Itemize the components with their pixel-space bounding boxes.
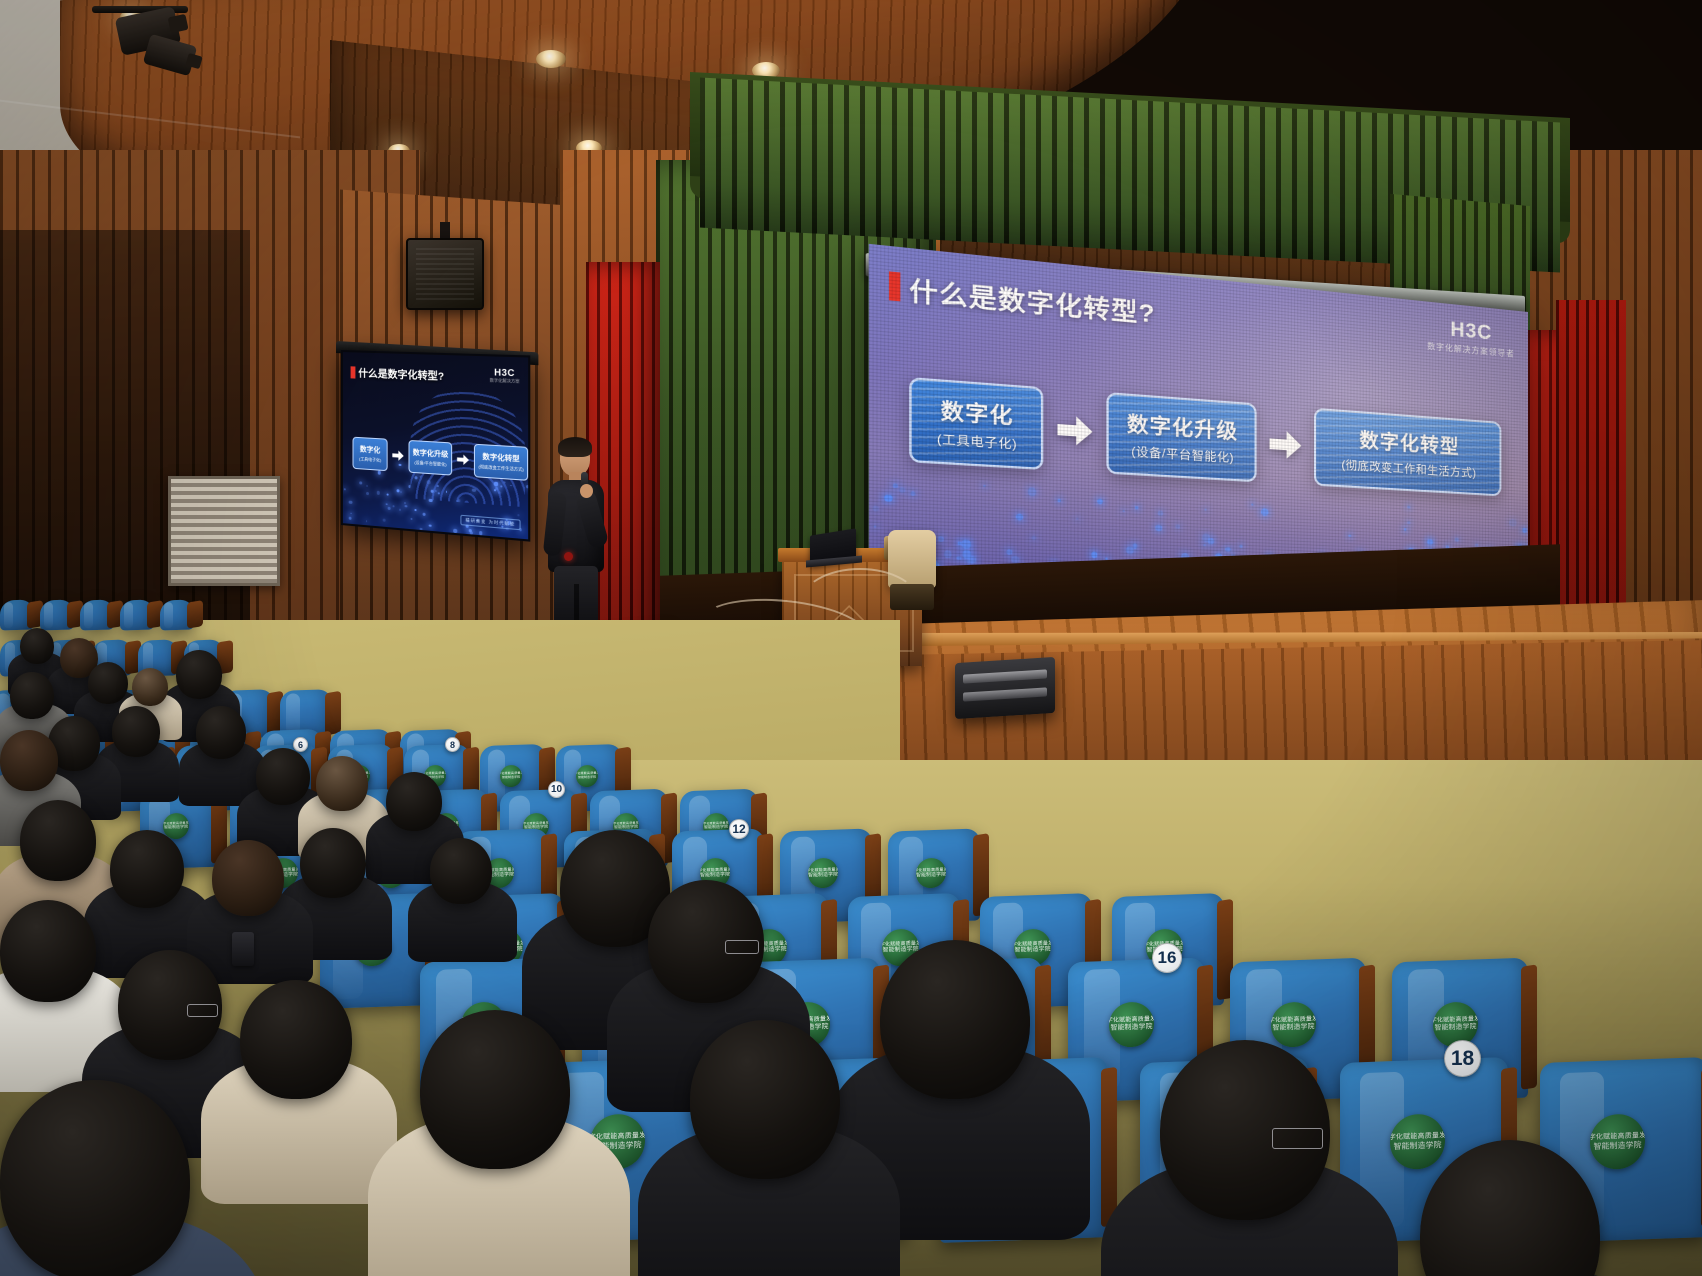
air-vent-grille — [168, 476, 280, 586]
seat-highlight — [44, 602, 53, 628]
audience-head — [212, 840, 284, 916]
seat-sticker-line2: 智能制造学院 — [1394, 1140, 1442, 1151]
side-flow-box-2: 数字化升级 (设备/平台智能化) — [409, 440, 453, 476]
side-flow-box-1: 数字化 (工具电子化) — [353, 437, 388, 472]
seat-number-badge: 16 — [1152, 943, 1182, 973]
audience-head — [256, 748, 310, 805]
seat-highlight — [164, 602, 173, 628]
seat-sticker-line2: 智能制造学院 — [916, 872, 946, 879]
equipment-case-panel — [963, 687, 1047, 701]
seat-sticker-line2: 智能制造学院 — [1111, 1023, 1153, 1033]
presenter-hair — [558, 437, 592, 457]
seat-sticker-line2: 智能制造学院 — [1014, 946, 1050, 954]
eyeglasses — [725, 940, 760, 954]
seat-sticker: 数字化赋能高质量发展智能制造学院 — [1590, 1113, 1645, 1170]
seat-highlight — [4, 602, 13, 628]
auditorium-seat[interactable] — [120, 599, 154, 630]
side-h3c-logo: H3C 数字化解决方案 — [490, 367, 520, 385]
right-arrow-icon — [1056, 413, 1096, 449]
seat-armrest — [1101, 1067, 1117, 1228]
seat-sticker-line2: 智能制造学院 — [164, 825, 188, 831]
flow-box-1-sub: (工具电子化) — [922, 429, 1032, 454]
seat-sticker: 数字化赋能高质量发展智能制造学院 — [1390, 1113, 1445, 1170]
seat-sticker: 数字化赋能高质量发展智能制造学院 — [916, 858, 946, 889]
flow-box-3: 数字化转型 (彻底改变工作和生活方式) — [1315, 408, 1502, 497]
seat-sticker: 数字化赋能高质量发展智能制造学院 — [1271, 1001, 1316, 1048]
flow-box-2: 数字化升级 (设备/平台智能化) — [1107, 392, 1257, 482]
auditorium-seat[interactable] — [160, 599, 194, 630]
eyeglasses — [187, 1004, 218, 1016]
auditorium-seat[interactable] — [80, 599, 114, 630]
seat-sticker: 数字化赋能高质量发展智能制造学院 — [500, 765, 522, 788]
audience-head — [430, 838, 492, 904]
side-flow-box-1-title: 数字化 — [356, 444, 383, 456]
side-flow-box-1-sub: (工具电子化) — [356, 456, 383, 464]
smartphone[interactable] — [232, 932, 254, 966]
seat-sticker-line2: 智能制造学院 — [502, 776, 520, 780]
h3c-logo: H3C 数字化解决方案领导者 — [1427, 316, 1514, 360]
audience-head — [88, 662, 128, 704]
right-arrow-icon — [392, 449, 405, 462]
audience-head — [0, 730, 58, 791]
audience-head — [10, 672, 54, 719]
side-slide-title: 什么是数字化转型? — [358, 365, 444, 383]
presenter-hand — [580, 484, 593, 498]
seat-number-badge: 12 — [729, 819, 749, 839]
slide-title: 什么是数字化转型? — [909, 269, 1155, 330]
audience-head — [420, 1010, 570, 1169]
seat-sticker-line2: 智能制造学院 — [1273, 1023, 1315, 1033]
seat-highlight — [124, 602, 133, 628]
audience-head — [176, 650, 222, 699]
flow-box-2-sub: (设备/平台智能化) — [1118, 441, 1246, 466]
seat-sticker: 数字化赋能高质量发展智能制造学院 — [808, 858, 838, 889]
right-arrow-icon — [457, 453, 470, 466]
side-flow-box-3: 数字化转型 (彻底改变工作生活方式) — [474, 444, 528, 481]
seat-sticker-line2: 智能制造学院 — [578, 776, 596, 780]
audience-head — [316, 756, 368, 811]
equipment-case — [955, 657, 1055, 719]
side-flow-box-2-sub: (设备/平台智能化) — [413, 460, 449, 469]
side-h3c-logo-tagline: 数字化解决方案 — [490, 377, 520, 384]
audience-head — [386, 772, 442, 831]
audience-head — [112, 706, 160, 757]
auditorium-seat[interactable] — [40, 599, 74, 630]
seat-highlight — [286, 693, 300, 735]
audience-head — [196, 706, 246, 759]
seat-number-badge: 18 — [1444, 1040, 1481, 1077]
seat-number-badge: 8 — [445, 737, 460, 752]
right-arrow-icon — [1268, 428, 1304, 462]
slide-accent-bar — [889, 271, 900, 301]
seat-sticker-line2: 智能制造学院 — [1435, 1023, 1477, 1033]
side-display[interactable]: 什么是数字化转型? H3C 数字化解决方案 数字化 (工具电子化) 数字化升级 … — [341, 350, 530, 542]
audience-head — [880, 940, 1030, 1099]
seat-sticker-line2: 智能制造学院 — [1594, 1140, 1642, 1151]
audience-head — [300, 828, 366, 898]
seat-armrest — [1521, 965, 1537, 1091]
seat-number-badge: 10 — [548, 781, 565, 798]
seat-armrest — [325, 691, 341, 736]
seat-sticker-line2: 智能制造学院 — [808, 872, 838, 879]
side-flow-box-3-title: 数字化转型 — [478, 451, 523, 464]
equipment-case-panel — [963, 669, 1047, 683]
audience-head — [20, 800, 96, 881]
flow-box-1: 数字化 (工具电子化) — [909, 377, 1044, 470]
auditorium-seat[interactable] — [0, 599, 34, 630]
audience-head — [132, 668, 168, 706]
laser-pointer — [564, 552, 573, 561]
side-flow-box-2-title: 数字化升级 — [413, 447, 449, 460]
audience-head — [690, 1020, 840, 1179]
audience-head — [0, 900, 96, 1002]
seat-sticker: 数字化赋能高质量发展智能制造学院 — [1109, 1001, 1154, 1048]
seat-highlight — [84, 602, 93, 628]
side-slide-accent-bar — [351, 366, 356, 378]
seat-armrest — [187, 600, 203, 629]
side-flow-box-3-sub: (彻底改变工作生活方式) — [478, 464, 523, 473]
audience-head — [0, 1080, 190, 1276]
audience-head — [110, 830, 184, 908]
seat-number-badge: 6 — [293, 737, 308, 752]
wall-left-shadow — [0, 230, 250, 650]
auditorium-photo: 什么是数字化转型? H3C 数字化解决方案领导者 数字化 (工具电子化) 数字化… — [0, 0, 1702, 1276]
flow-box-1-title: 数字化 — [922, 393, 1032, 431]
flow-box-2-title: 数字化升级 — [1118, 407, 1246, 445]
seat-sticker: 数字化赋能高质量发展智能制造学院 — [576, 765, 598, 788]
wall-speaker — [406, 238, 484, 310]
eyeglasses — [1272, 1128, 1323, 1148]
audience-head — [240, 980, 352, 1099]
audience-head — [20, 628, 54, 664]
seat-sticker-line2: 智能制造学院 — [700, 872, 730, 879]
ceiling-downlight — [536, 50, 566, 68]
